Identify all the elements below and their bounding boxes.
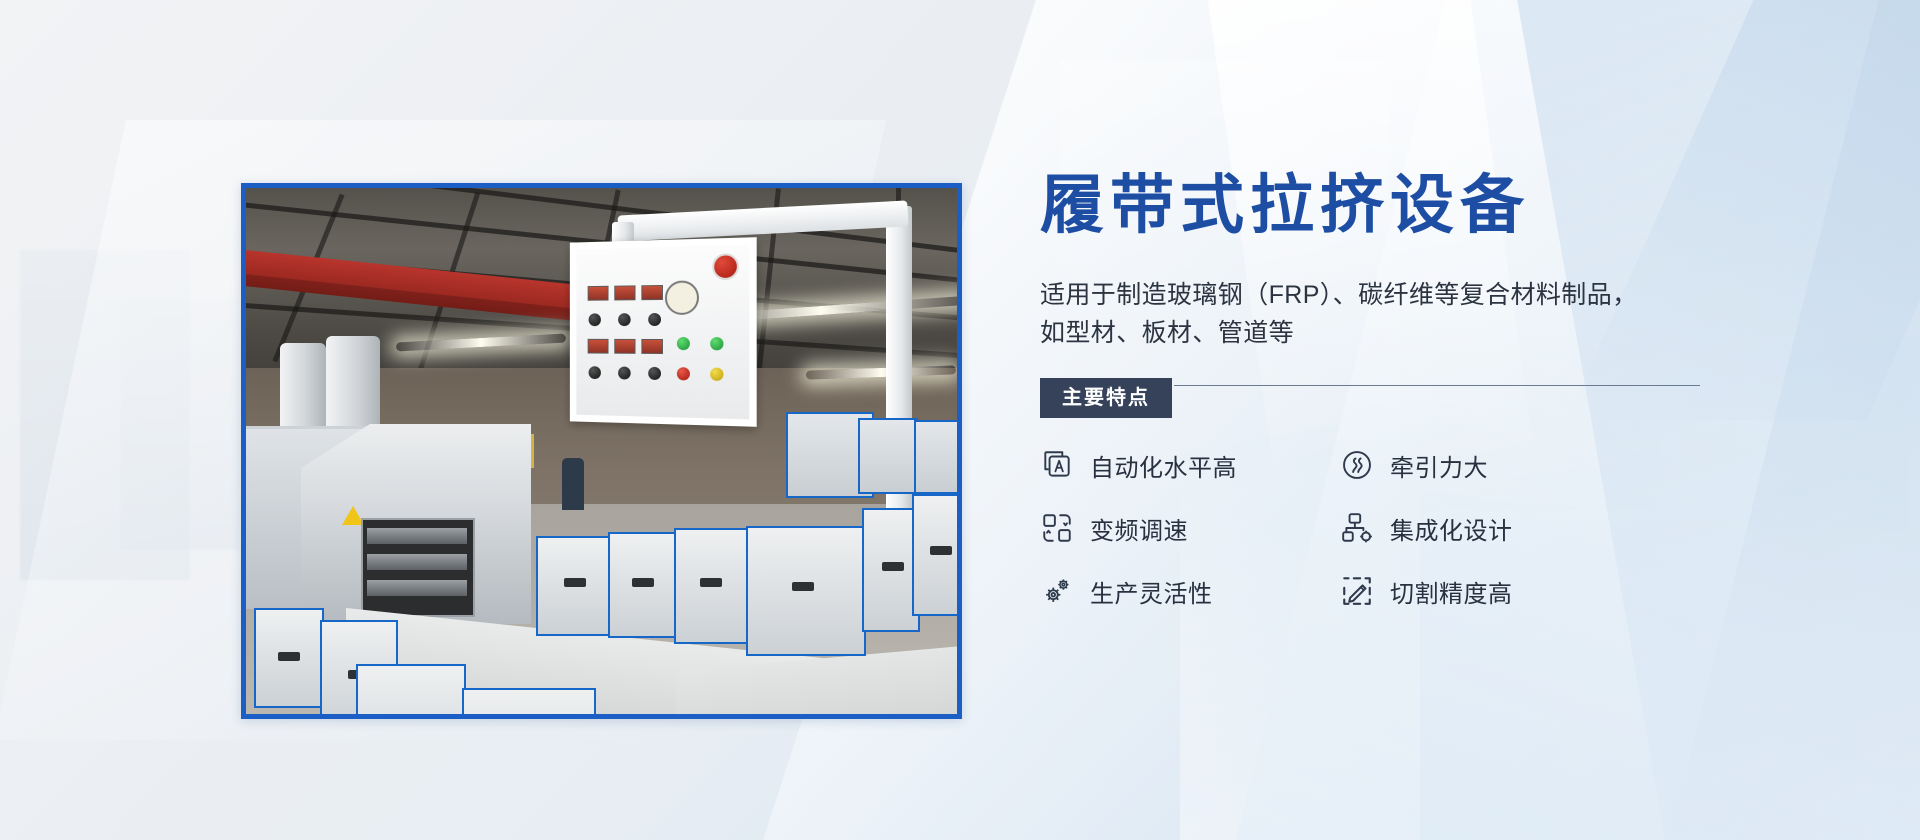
roller-window: [361, 518, 475, 617]
worker-figure: [562, 458, 584, 510]
features-heading-row: 主要特点: [1040, 378, 1700, 418]
far-machine: [858, 418, 918, 494]
feature-item-integration: 集成化设计: [1340, 511, 1640, 546]
machine-cabinet: [536, 536, 612, 636]
product-banner: 履带式拉挤设备 适用于制造玻璃钢（FRP）、碳纤维等复合材料制品，如型材、板材、…: [0, 0, 1920, 840]
feature-item-frequency: 变频调速: [1040, 511, 1340, 546]
machine-cabinet: [746, 526, 866, 656]
status-badge: 主要特点: [1040, 378, 1172, 418]
integrated-design-nodes-icon: [1340, 511, 1374, 545]
feature-item-flexibility: 生产灵活性: [1040, 574, 1340, 609]
feature-label: 切割精度高: [1390, 574, 1513, 609]
traction-waves-circle-icon: [1340, 448, 1374, 482]
product-photo-image: [246, 188, 957, 714]
product-photo: [241, 183, 962, 719]
cutting-precision-pencil-icon: [1340, 574, 1374, 608]
feature-label: 集成化设计: [1390, 511, 1513, 546]
machine-cabinet: [356, 664, 466, 714]
automation-square-a-icon: [1040, 448, 1074, 482]
feature-item-cutting-precision: 切割精度高: [1340, 574, 1640, 609]
machine-cabinet: [254, 608, 324, 708]
hopper: [280, 343, 326, 435]
divider: [1174, 385, 1700, 386]
frequency-conversion-icon: [1040, 511, 1074, 545]
feature-label: 自动化水平高: [1090, 448, 1237, 483]
emergency-stop-button: [712, 253, 739, 280]
feature-label: 生产灵活性: [1090, 574, 1213, 609]
feature-label: 牵引力大: [1390, 448, 1488, 483]
page-title: 履带式拉挤设备: [1040, 170, 1700, 242]
banner-content: 履带式拉挤设备 适用于制造玻璃钢（FRP）、碳纤维等复合材料制品，如型材、板材、…: [1040, 170, 1700, 609]
machine-cabinet: [462, 688, 596, 714]
machine-cabinet: [912, 494, 957, 616]
features-list: 自动化水平高 牵引力大: [1040, 448, 1700, 609]
machine-cabinet: [674, 528, 750, 644]
machine-cabinet: [608, 532, 678, 638]
gears-flexibility-icon: [1040, 574, 1074, 608]
feature-label: 变频调速: [1090, 511, 1188, 546]
product-description: 适用于制造玻璃钢（FRP）、碳纤维等复合材料制品，如型材、板材、管道等: [1040, 276, 1640, 352]
far-machine: [914, 420, 957, 494]
hopper: [326, 336, 380, 436]
feature-item-traction: 牵引力大: [1340, 448, 1640, 483]
control-panel: [570, 237, 757, 427]
feature-item-automation: 自动化水平高: [1040, 448, 1340, 483]
